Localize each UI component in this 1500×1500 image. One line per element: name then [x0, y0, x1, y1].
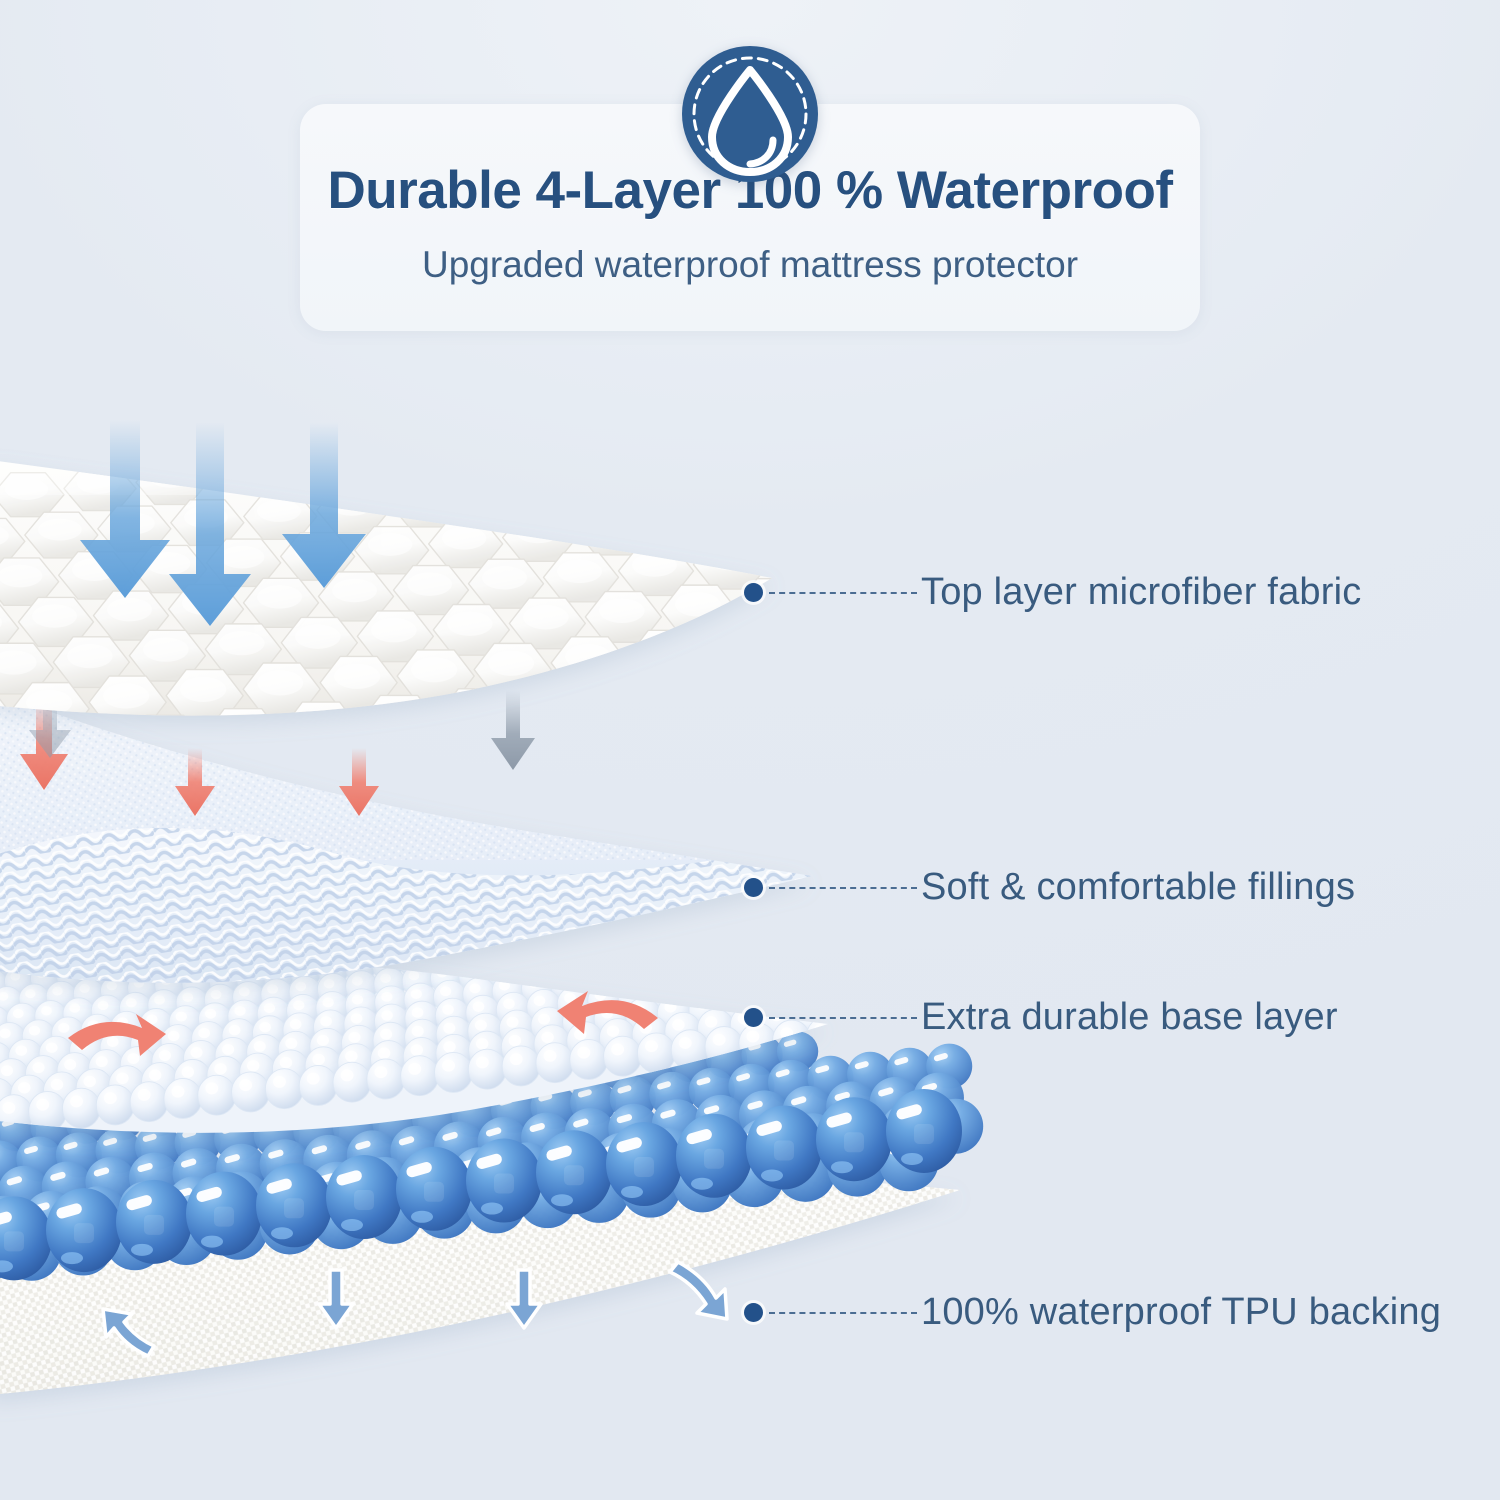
callout-dot-marker [744, 878, 763, 897]
callout-top-layer: Top layer microfiber fabric [744, 571, 1361, 614]
callout-label: Soft & comfortable fillings [921, 866, 1355, 909]
callout-label: Top layer microfiber fabric [921, 571, 1361, 614]
callout-leader-line [769, 1017, 917, 1019]
callout-dot-marker [744, 1008, 763, 1027]
callout-base-layer: Extra durable base layer [744, 996, 1338, 1039]
infographic-canvas: Durable 4-Layer 100 % Waterproof Upgrade… [0, 0, 1500, 1500]
callout-fillings: Soft & comfortable fillings [744, 866, 1355, 909]
callout-dot-marker [744, 583, 763, 602]
callout-leader-line [769, 1312, 917, 1314]
page-subtitle: Upgraded waterproof mattress protector [300, 244, 1200, 286]
callout-leader-line [769, 887, 917, 889]
quilted-microfiber-layer [0, 420, 859, 789]
callout-label: Extra durable base layer [921, 996, 1338, 1039]
callout-label: 100% waterproof TPU backing [921, 1291, 1441, 1334]
water-drop-badge-icon [680, 44, 820, 184]
callout-leader-line [769, 592, 917, 594]
callout-tpu-backing: 100% waterproof TPU backing [744, 1291, 1441, 1334]
callout-dot-marker [744, 1303, 763, 1322]
